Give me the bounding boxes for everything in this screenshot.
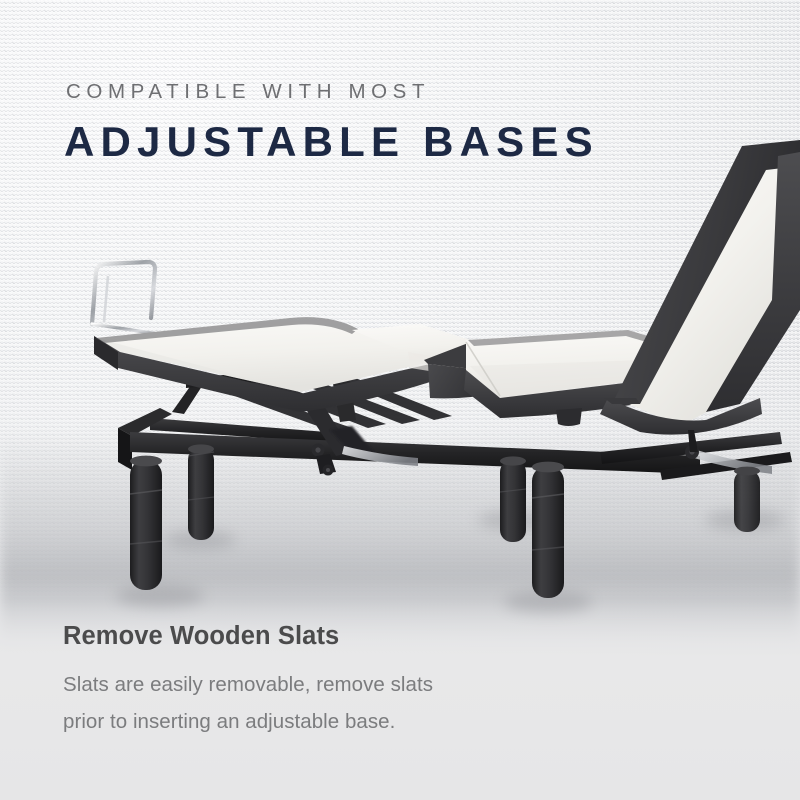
image-canvas: COMPATIBLE WITH MOST ADJUSTABLE BASES Re…: [0, 0, 800, 800]
caption-title: Remove Wooden Slats: [63, 622, 339, 651]
product-ground-shadow: [116, 510, 785, 613]
caption-body: Slats are easily removable, remove slats…: [63, 666, 433, 740]
leg-rear-center: [500, 456, 526, 542]
retainer-bracket-icon: [92, 262, 158, 334]
leg-rear-left: [188, 444, 214, 540]
deck-bracket-icon: [556, 408, 582, 426]
leg-front-center: [532, 462, 564, 598]
page-title: ADJUSTABLE BASES: [64, 118, 599, 166]
leg-rear-right: [734, 467, 760, 532]
head-section: [600, 140, 800, 452]
leg-front-left: [130, 456, 162, 590]
eyebrow-text: COMPATIBLE WITH MOST: [66, 80, 430, 104]
